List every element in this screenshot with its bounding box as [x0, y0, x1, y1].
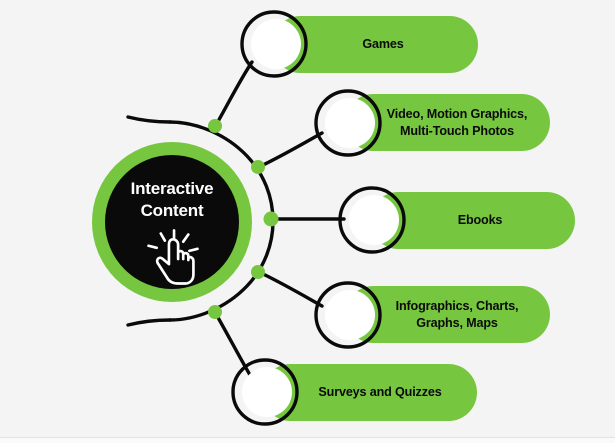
- bottom-strip: [0, 438, 615, 443]
- branch-pill-ebooks[interactable]: [370, 192, 575, 249]
- mindmap-diagram: Interactive Content Games Video, Motion …: [0, 0, 615, 443]
- junction-dot-infographics: [251, 265, 265, 279]
- branch-pill-infographics-charts[interactable]: [345, 286, 550, 343]
- hub-arc-tail-top: [128, 117, 170, 122]
- junction-dot-video: [251, 160, 265, 174]
- branch-pill-games[interactable]: [272, 16, 478, 73]
- junction-dot-ebooks: [264, 212, 279, 227]
- junction-dot-surveys: [208, 305, 222, 319]
- branch-pill-video-motion-graphics[interactable]: [345, 94, 550, 151]
- connector-line-infographics: [259, 272, 322, 306]
- branch-marker-surveys-quizzes[interactable]: [233, 360, 297, 424]
- branch-marker-games[interactable]: [242, 12, 306, 76]
- hub-arc-tail-bottom: [128, 320, 170, 325]
- center-node[interactable]: [92, 142, 252, 302]
- junction-dot-games: [208, 119, 222, 133]
- branch-marker-infographics-charts[interactable]: [316, 283, 380, 347]
- center-node-core: [105, 155, 239, 289]
- branch-marker-video-motion-graphics[interactable]: [316, 91, 380, 155]
- connector-line-video: [259, 133, 322, 167]
- branch-pill-surveys-quizzes[interactable]: [262, 364, 477, 421]
- connector-line-games: [216, 62, 252, 125]
- branch-marker-ebooks[interactable]: [340, 188, 404, 252]
- diagram-canvas: [0, 0, 615, 443]
